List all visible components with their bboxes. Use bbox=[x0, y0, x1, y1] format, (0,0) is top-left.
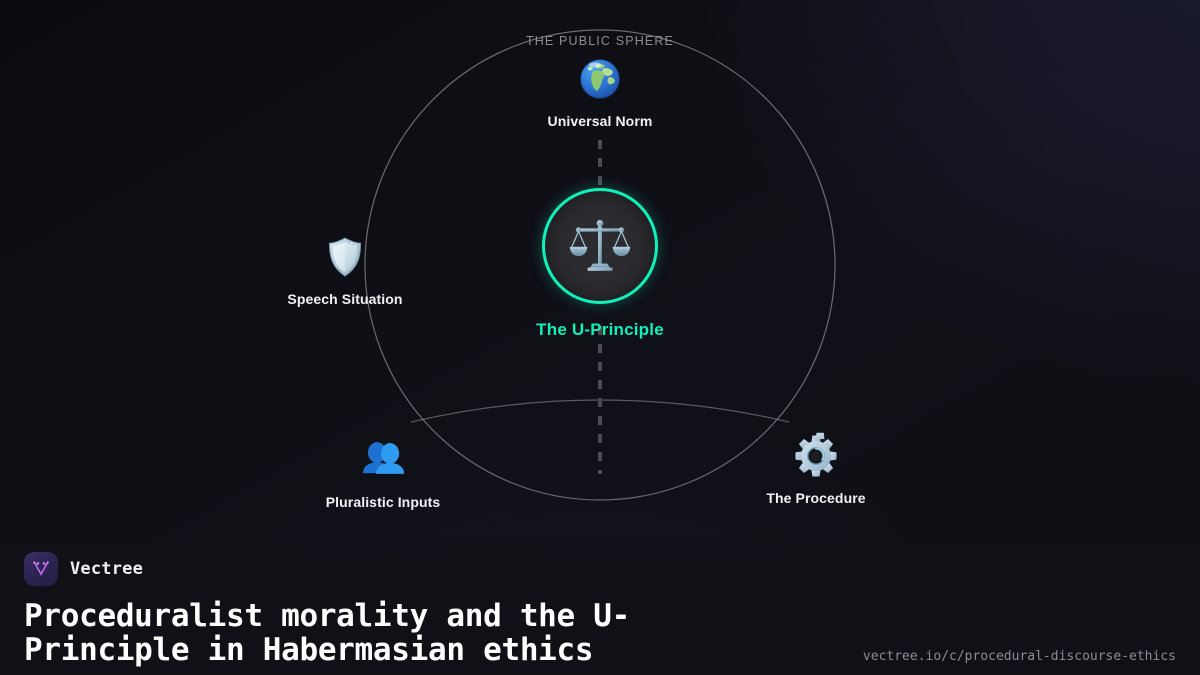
brand-row: Vectree bbox=[24, 552, 1176, 586]
diagram-node-universal-norm[interactable]: Universal Norm bbox=[485, 55, 715, 129]
diagram-canvas: THE PUBLIC SPHERE bbox=[0, 0, 1200, 530]
diagram-node-speech-situation[interactable]: Speech Situation bbox=[230, 233, 460, 307]
page-url: vectree.io/c/procedural-discourse-ethics bbox=[863, 649, 1176, 668]
diagram-node-u-principle[interactable]: The U-Principle bbox=[470, 188, 730, 340]
globe-icon bbox=[576, 55, 624, 103]
vectree-logo-icon bbox=[24, 552, 58, 586]
diagram-node-label: Universal Norm bbox=[548, 113, 653, 129]
diagram-node-label: Speech Situation bbox=[287, 291, 402, 307]
page-title: Proceduralist morality and the U-Princip… bbox=[24, 600, 784, 668]
screenshot-root: THE PUBLIC SPHERE bbox=[0, 0, 1200, 675]
u-principle-label: The U-Principle bbox=[536, 320, 664, 340]
people-icon bbox=[357, 432, 409, 484]
shield-icon bbox=[321, 233, 369, 281]
footer-bar: Vectree Proceduralist morality and the U… bbox=[0, 530, 1200, 675]
public-sphere-label: THE PUBLIC SPHERE bbox=[0, 34, 1200, 48]
diagram-node-pluralistic-inputs[interactable]: Pluralistic Inputs bbox=[268, 432, 498, 510]
diagram-node-label: Pluralistic Inputs bbox=[326, 494, 441, 510]
title-row: Proceduralist morality and the U-Princip… bbox=[24, 600, 1176, 668]
u-principle-disc[interactable] bbox=[542, 188, 658, 304]
balance-scale-icon bbox=[567, 213, 633, 279]
brand-name: Vectree bbox=[70, 559, 143, 579]
diagram-node-the-procedure[interactable]: The Procedure bbox=[701, 432, 931, 506]
gear-icon bbox=[792, 432, 840, 480]
diagram-node-label: The Procedure bbox=[766, 490, 865, 506]
